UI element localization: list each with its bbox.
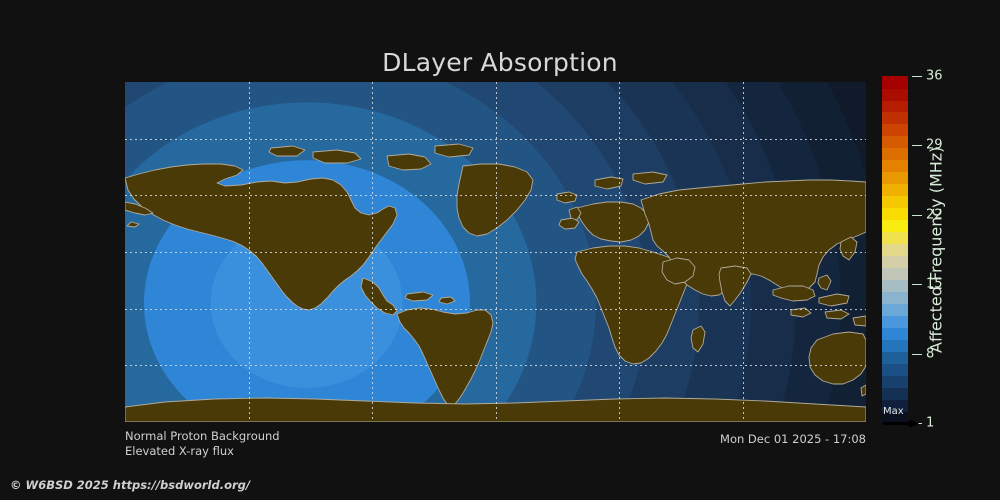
colorbar-segment [882,196,908,209]
coastline-overlay [125,82,866,422]
colorbar-segment [882,220,908,233]
timestamp: Mon Dec 01 2025 - 17:08 [720,432,866,446]
colorbar-segment [882,375,908,388]
colorbar-segment [882,351,908,364]
colorbar-gradient [882,76,908,423]
proton-status-text: Normal Proton Background [125,429,280,444]
colorbar-segment [882,100,908,113]
copyright-credit: © W6BSD 2025 https://bsdworld.org/ [10,478,250,492]
colorbar-segment [882,88,908,101]
colorbar-tick-mark [912,215,922,216]
colorbar-max-label: Max [883,407,904,417]
colorbar-segment [882,339,908,352]
colorbar-segment [882,184,908,197]
colorbar-axis-label: Affected Frequency (MHz) [924,76,948,423]
colorbar-segment [882,148,908,161]
colorbar-segment [882,208,908,221]
world-map[interactable] [125,82,866,422]
colorbar-segment [882,112,908,125]
colorbar-segment [882,303,908,316]
colorbar-tick-mark [912,145,922,146]
colorbar-segment [882,244,908,257]
xray-status-text: Elevated X-ray flux [125,444,234,459]
app-root: DLayer Absorption [0,0,1000,500]
colorbar-segment [882,387,908,400]
colorbar-max-marker: Max [882,408,922,430]
colorbar-segment [882,76,908,89]
arrow-right-icon [883,419,919,428]
colorbar-segment [882,232,908,245]
colorbar-segment [882,255,908,268]
page-title: DLayer Absorption [0,48,1000,77]
colorbar-segment [882,363,908,376]
colorbar-segment [882,172,908,185]
colorbar-segment [882,124,908,137]
colorbar-segment [882,291,908,304]
colorbar-segment [882,136,908,149]
colorbar-tick-mark [912,76,922,77]
colorbar-segment [882,279,908,292]
colorbar-segment [882,315,908,328]
colorbar-tick-mark [912,354,922,355]
colorbar-segment [882,160,908,173]
colorbar-tick-mark [912,284,922,285]
colorbar[interactable]: 3629221581 Max [882,76,908,423]
colorbar-segment [882,267,908,280]
colorbar-segment [882,327,908,340]
